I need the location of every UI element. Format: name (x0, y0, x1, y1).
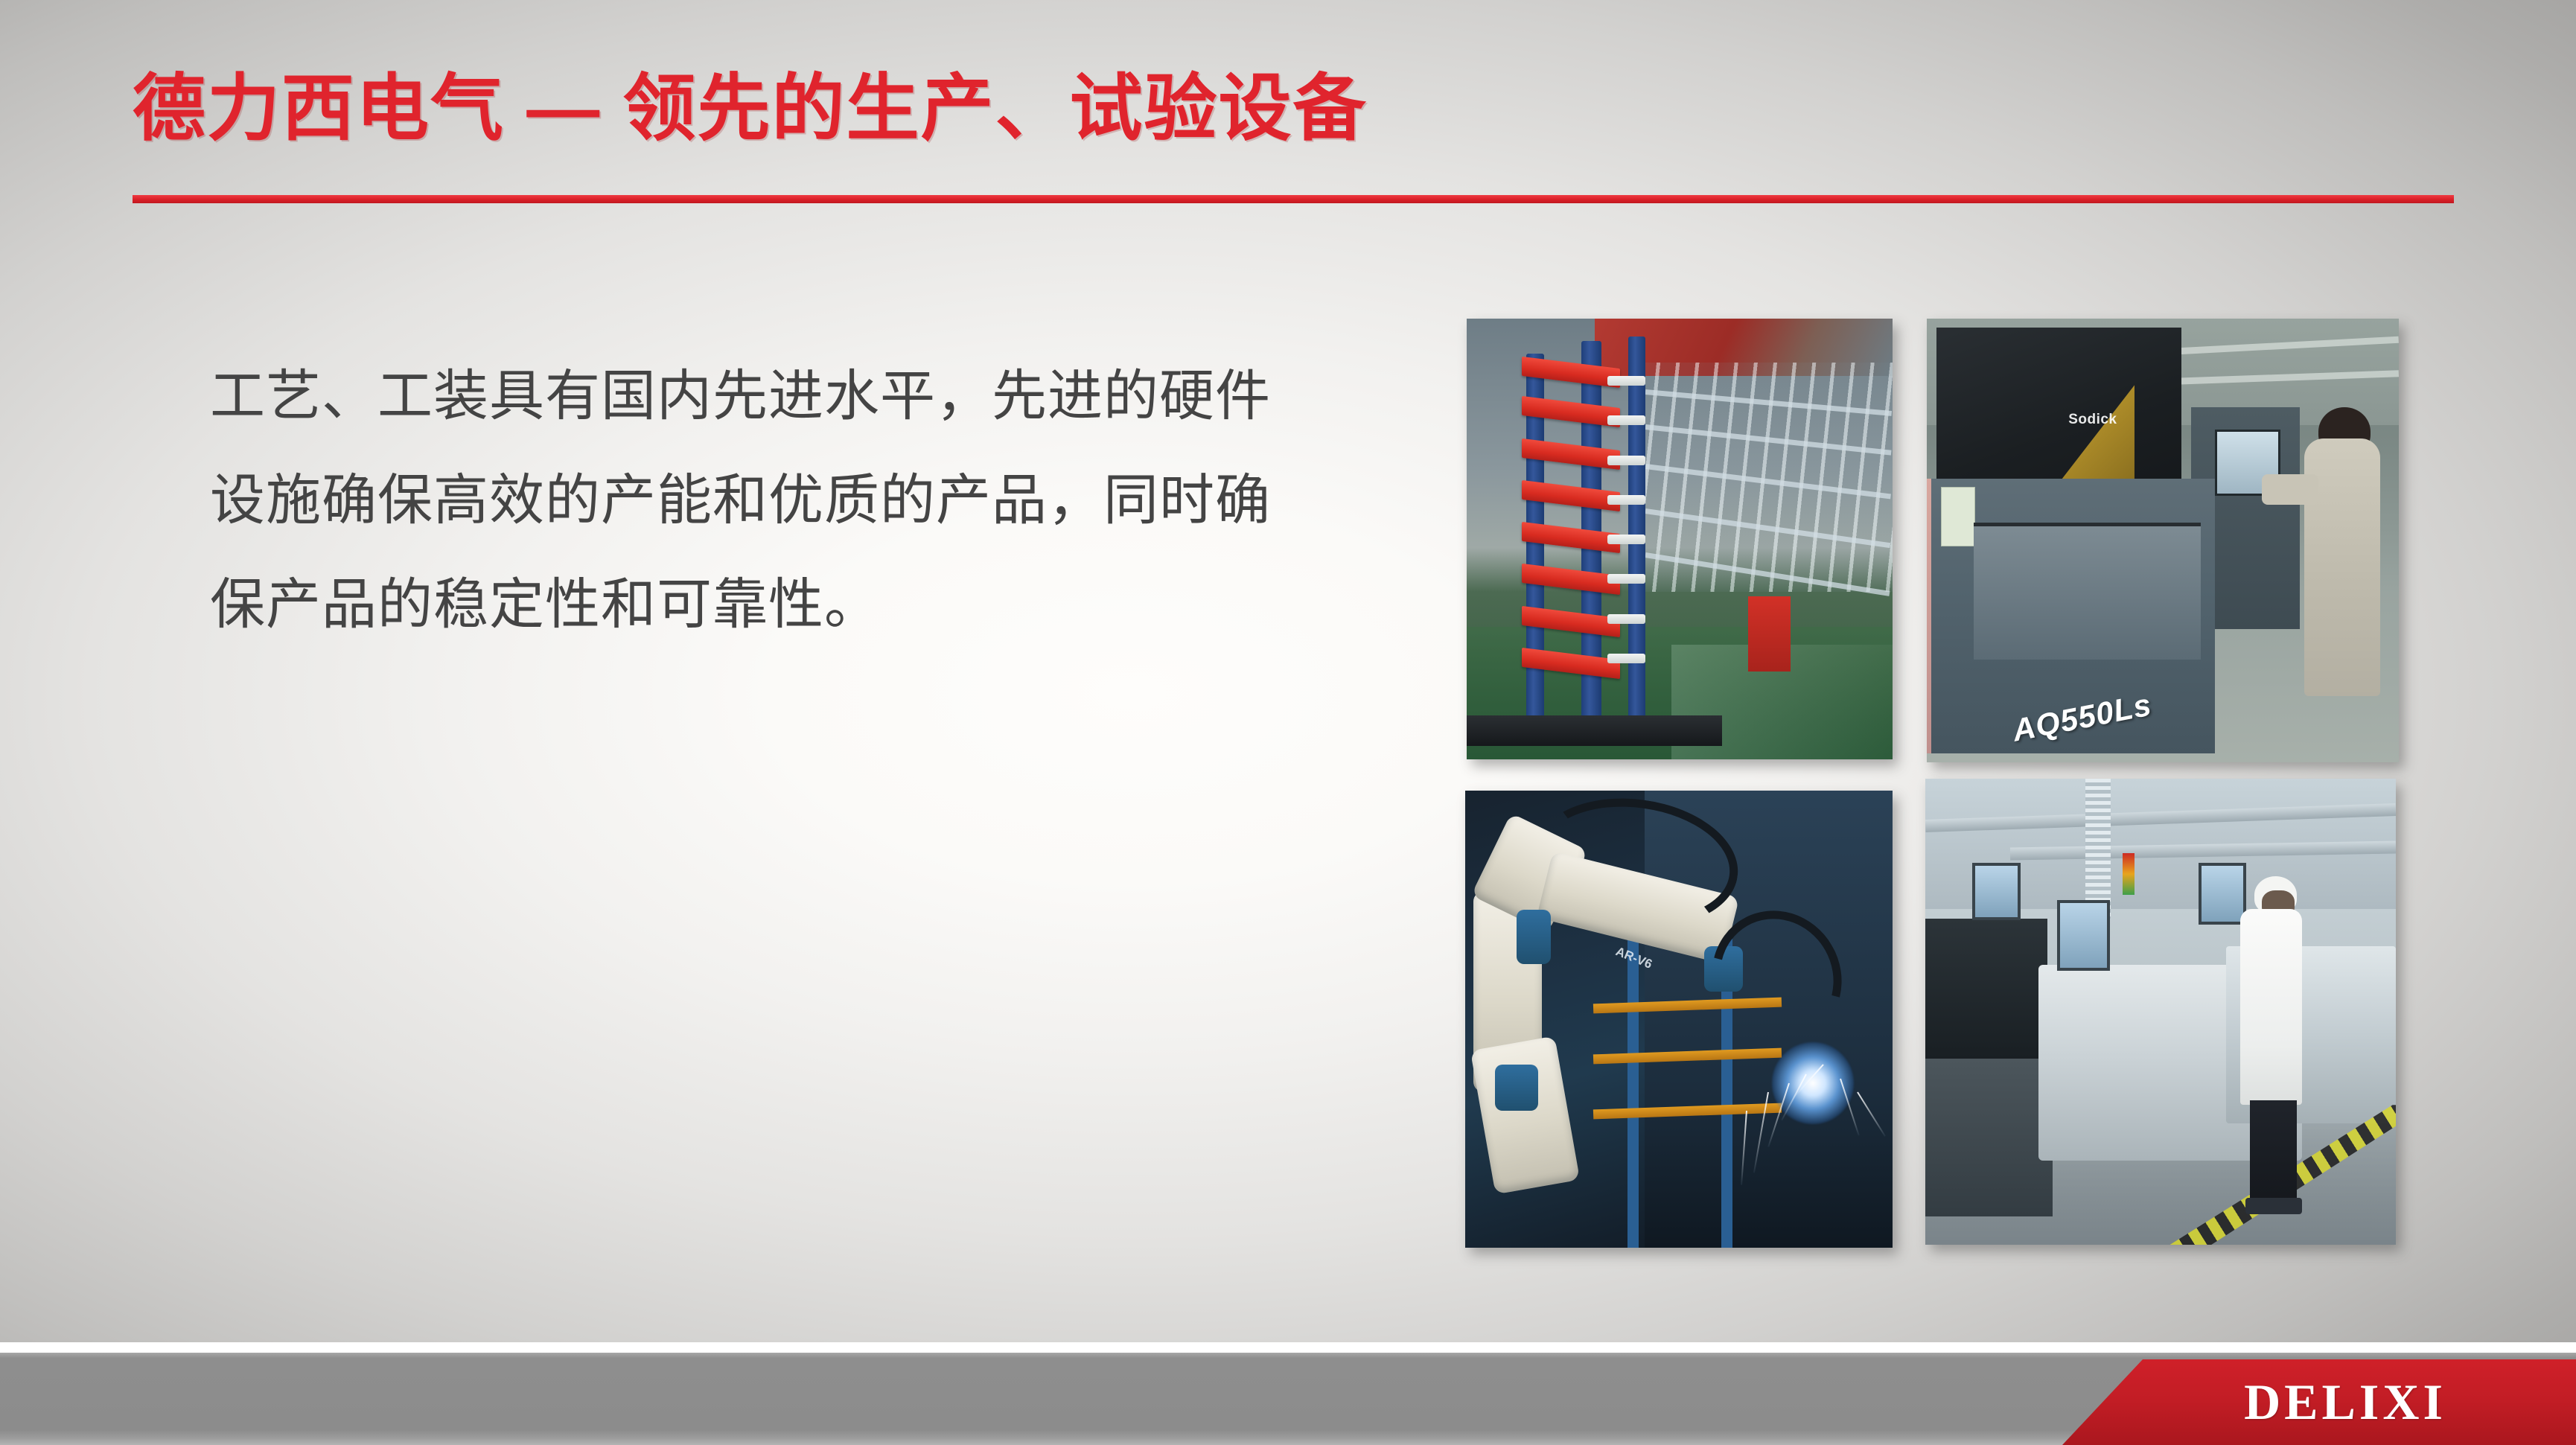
slide-canvas: 德力西电气 — 领先的生产、试验设备 工艺、工装具有国内先进水平，先进的硬件 设… (0, 0, 2576, 1445)
delixi-logo-banner: DELIXI (2062, 1359, 2576, 1445)
photo-sodick-wire-edm: Sodick AQ550Ls (1927, 319, 2399, 762)
photo-hv-impulse-test-lab (1467, 319, 1893, 759)
body-text-line-1: 工艺、工装具有国内先进水平，先进的硬件 (210, 344, 1371, 448)
footer-white-divider (0, 1342, 2576, 1353)
photo-grid: Sodick AQ550Ls (1458, 319, 2405, 1249)
delixi-logo-text: DELIXI (2192, 1373, 2446, 1432)
body-text-line-3: 保产品的稳定性和可靠性。 (210, 552, 1371, 657)
photo-welding-robot: AR-V6 (1465, 791, 1893, 1248)
title-underline-rule (133, 195, 2454, 203)
photo-brand-label: Sodick (2068, 412, 2117, 428)
page-title: 德力西电气 — 领先的生产、试验设备 (133, 66, 2455, 152)
body-text-line-2: 设施确保高效的产能和优质的产品，同时确 (210, 448, 1371, 552)
title-block: 德力西电气 — 领先的生产、试验设备 (133, 66, 2455, 152)
body-text-block: 工艺、工装具有国内先进水平，先进的硬件 设施确保高效的产能和优质的产品，同时确 … (210, 344, 1371, 657)
photo-smt-production-line (1925, 779, 2396, 1245)
